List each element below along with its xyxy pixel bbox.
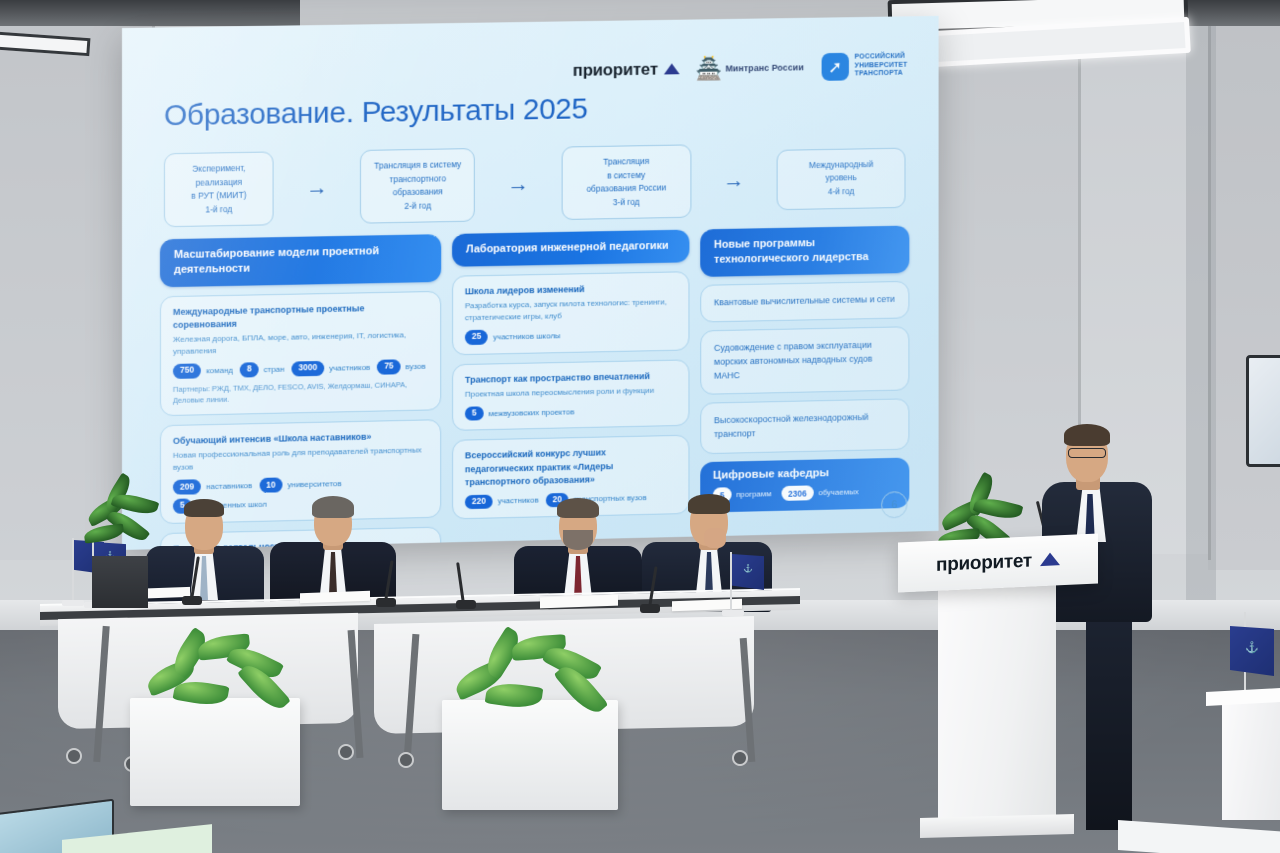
flag-pole xyxy=(730,552,732,612)
slide: приоритет 🏯 Минтранс России ➚ РОССИЙСКИЙ… xyxy=(122,16,939,550)
rut-line-1: РОССИЙСКИЙ xyxy=(855,52,905,60)
plant-leaf xyxy=(83,523,125,543)
stat-value: 3000 xyxy=(291,361,324,376)
process-flow: Эксперимент, реализация в РУТ (МИИТ) 1-й… xyxy=(164,141,906,228)
card-title: Школа лидеров изменений xyxy=(465,281,677,298)
stat-item: 750 команд xyxy=(173,363,233,379)
card-stats: 750 команд 8 стран 3000 участников xyxy=(173,359,428,379)
flow-step-4: Международный уровень 4-й год xyxy=(777,147,906,209)
rut-wordmark: РОССИЙСКИЙ УНИВЕРСИТЕТ ТРАНСПОРТА xyxy=(855,52,908,79)
logo-prioritet: приоритет xyxy=(573,59,680,81)
program-mans: Судовождение с правом эксплуатации морск… xyxy=(700,326,909,395)
stat-value: 2306 xyxy=(781,486,813,502)
stat-label: межвузовских проектов xyxy=(488,407,574,418)
hair xyxy=(184,499,224,517)
stat-label: участников xyxy=(329,363,370,373)
slide-title: Образование. Результаты 2025 xyxy=(164,93,588,134)
column-middle: Лаборатория инженерной педагогики Школа … xyxy=(452,230,689,509)
card-leaders-school: Школа лидеров изменений Разработка курса… xyxy=(452,271,689,355)
table-caster xyxy=(732,750,748,766)
column-left: Масштабирование модели проектной деятель… xyxy=(160,234,441,515)
stat-value: 209 xyxy=(173,479,201,494)
beard xyxy=(563,530,593,550)
wall-panel-far-right xyxy=(1208,10,1280,570)
stat-label: команд xyxy=(206,365,233,375)
stat-item: 5 межвузовских проектов xyxy=(465,404,574,421)
slide-logo-row: приоритет 🏯 Минтранс России ➚ РОССИЙСКИЙ… xyxy=(573,52,908,85)
stat-value: 220 xyxy=(465,494,493,509)
hand xyxy=(704,528,726,548)
table-caster xyxy=(66,748,82,764)
stat-label: участников школы xyxy=(493,331,560,341)
flow-step-1: Эксперимент, реализация в РУТ (МИИТ) 1-й… xyxy=(164,151,274,227)
stat-item: 2306 обучаемых xyxy=(781,485,858,502)
prioritet-wordmark: приоритет xyxy=(573,60,658,81)
card-competitions: Международные транспортные проектные сор… xyxy=(160,291,441,417)
arrow-right-icon: → xyxy=(475,173,561,196)
column-right-header: Новые программы технологического лидерст… xyxy=(700,226,909,277)
microphone-base xyxy=(640,604,660,613)
plant-leaf xyxy=(485,680,544,711)
program-high-speed-rail: Высокоскоростной железнодорожный транспо… xyxy=(700,399,909,455)
card-subtitle: Новая профессиональная роль для преподав… xyxy=(173,444,428,474)
stat-item: 8 стран xyxy=(240,361,284,377)
flag-base xyxy=(62,600,84,606)
stat-item: 3000 участников xyxy=(291,360,370,376)
column-right: Новые программы технологического лидерст… xyxy=(700,226,909,503)
side-table xyxy=(1222,700,1280,820)
table-caster xyxy=(398,752,414,768)
card-subtitle: Разработка курса, запуск пилота технолог… xyxy=(465,296,677,324)
projection-screen: приоритет 🏯 Минтранс России ➚ РОССИЙСКИЙ… xyxy=(122,16,939,550)
card-stats: 5 межвузовских проектов xyxy=(465,402,677,421)
podium-top: приоритет xyxy=(898,533,1098,592)
program-quantum: Квантовые вычислительные системы и сети xyxy=(700,281,909,323)
mintrans-wordmark: Минтранс России xyxy=(725,62,803,73)
flow-step-2: Трансляция в систему транспортного образ… xyxy=(360,148,475,224)
microphone-base xyxy=(456,600,476,609)
university-emblem-icon: ⚓ xyxy=(732,565,764,574)
stat-value: 25 xyxy=(465,330,488,345)
stat-item: 10 университетов xyxy=(259,476,341,493)
flag-pole xyxy=(72,538,74,604)
podium-prioritet-wordmark: приоритет xyxy=(936,550,1032,576)
stat-value: 75 xyxy=(377,359,400,374)
stat-label: стран xyxy=(264,364,285,373)
column-left-header: Масштабирование модели проектной деятель… xyxy=(160,234,441,287)
plant-pot-left xyxy=(92,556,148,608)
flow-step-3: Трансляция в систему образования России … xyxy=(561,144,691,220)
chevron-up-icon xyxy=(664,63,680,74)
planter-plant-2 xyxy=(450,636,618,714)
podium-body xyxy=(938,584,1056,834)
card-subtitle: Железная дорога, БПЛА, море, авто, инжен… xyxy=(173,329,428,358)
card-note: Партнеры: РЖД, ТМХ, ДЕЛО, FESCO, AVIS, Ж… xyxy=(173,378,428,406)
eyeglasses-icon xyxy=(1068,448,1106,458)
rut-line-3: ТРАНСПОРТА xyxy=(855,70,903,78)
digital-title: Цифровые кафедры xyxy=(713,466,897,482)
logo-mintrans: 🏯 Минтранс России xyxy=(697,53,804,82)
university-emblem-icon: ⚓ xyxy=(1230,642,1274,654)
stat-item: 25 участников школы xyxy=(465,328,561,345)
microphone-base xyxy=(182,596,202,605)
microphone-base xyxy=(376,598,396,607)
flag-base xyxy=(722,610,744,616)
card-stats: 25 участников школы xyxy=(465,326,677,345)
flag-cloth: ⚓ xyxy=(1230,626,1274,676)
slide-columns: Масштабирование модели проектной деятель… xyxy=(160,226,909,516)
trousers xyxy=(1086,600,1132,830)
stat-item: 209 наставников xyxy=(173,478,252,495)
chevron-up-icon xyxy=(1040,552,1060,566)
double-headed-eagle-icon: 🏯 xyxy=(697,55,721,83)
planter-box-2 xyxy=(442,700,618,810)
hair xyxy=(557,498,599,518)
conference-room-scene: приоритет 🏯 Минтранс России ➚ РОССИЙСКИЙ… xyxy=(0,0,1280,853)
stat-value: 750 xyxy=(173,363,201,378)
hair xyxy=(688,494,730,514)
stat-label: вузов xyxy=(405,361,425,370)
planter-plant-1 xyxy=(140,636,298,712)
flag-cloth: ⚓ xyxy=(732,554,764,590)
stat-label: обучаемых xyxy=(818,488,858,498)
card-title: Всероссийский конкурс лучших педагогичес… xyxy=(465,445,677,489)
arrow-right-icon: → xyxy=(274,176,361,199)
wall-seam xyxy=(1208,0,1211,560)
stat-value: 10 xyxy=(259,478,282,493)
card-transport-space: Транспорт как пространство впечатлений П… xyxy=(452,359,689,431)
wall-mounted-display xyxy=(1246,355,1280,467)
stat-label: наставников xyxy=(206,481,252,491)
rut-line-2: УНИВЕРСИТЕТ xyxy=(855,61,908,69)
column-middle-header: Лаборатория инженерной педагогики xyxy=(452,230,689,267)
hair xyxy=(1064,424,1110,446)
stat-value: 8 xyxy=(240,362,259,377)
card-title: Международные транспортные проектные сор… xyxy=(173,301,428,332)
stat-item: 75 вузов xyxy=(377,359,425,375)
stat-value: 5 xyxy=(465,406,484,421)
transport-arrow-icon: ➚ xyxy=(821,53,848,81)
hair xyxy=(312,496,354,518)
planter-box-1 xyxy=(130,698,300,806)
podium-base xyxy=(920,814,1074,838)
logo-rut: ➚ РОССИЙСКИЙ УНИВЕРСИТЕТ ТРАНСПОРТА xyxy=(821,52,907,81)
arrow-right-icon: → xyxy=(691,169,777,192)
slide-page-number: 6 xyxy=(881,491,907,518)
wall-column xyxy=(1186,0,1216,600)
table-caster xyxy=(338,744,354,760)
card-subtitle: Проектная школа переосмысления роли и фу… xyxy=(465,384,677,400)
stat-label: университетов xyxy=(287,479,341,489)
